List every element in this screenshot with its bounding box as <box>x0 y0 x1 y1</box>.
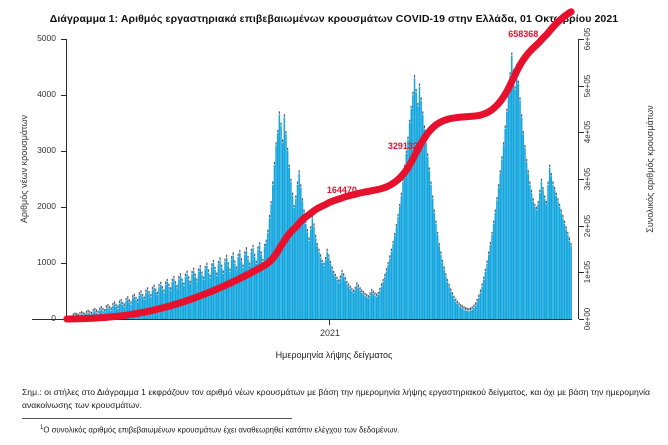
footnote-revision: 1Ο συνολικός αριθμός επιβεβαιωμένων κρου… <box>22 423 650 436</box>
x-tick-label-2021: 2021 <box>300 328 360 338</box>
annotation-329132: 329132 <box>388 141 418 151</box>
annotation-164470: 164470 <box>327 185 357 195</box>
x-axis-label: Ημερομηνία λήψης δείγματος <box>134 350 534 360</box>
annotations-layer: 164470329132658368 <box>0 34 668 334</box>
plot-area: 010002000300040005000 0e+001e+052e+053e+… <box>0 34 668 334</box>
footnotes: Σημ.: οι στήλες στο Διάγραμμα 1 εκφράζου… <box>22 386 650 436</box>
footnote-main: Σημ.: οι στήλες στο Διάγραμμα 1 εκφράζου… <box>22 386 650 412</box>
footnote-divider <box>22 418 292 419</box>
x-tick-mark <box>329 320 330 325</box>
annotation-658368: 658368 <box>508 29 538 39</box>
footnote-revision-text: Ο συνολικός αριθμός επιβεβαιωμένων κρουσ… <box>43 426 399 435</box>
